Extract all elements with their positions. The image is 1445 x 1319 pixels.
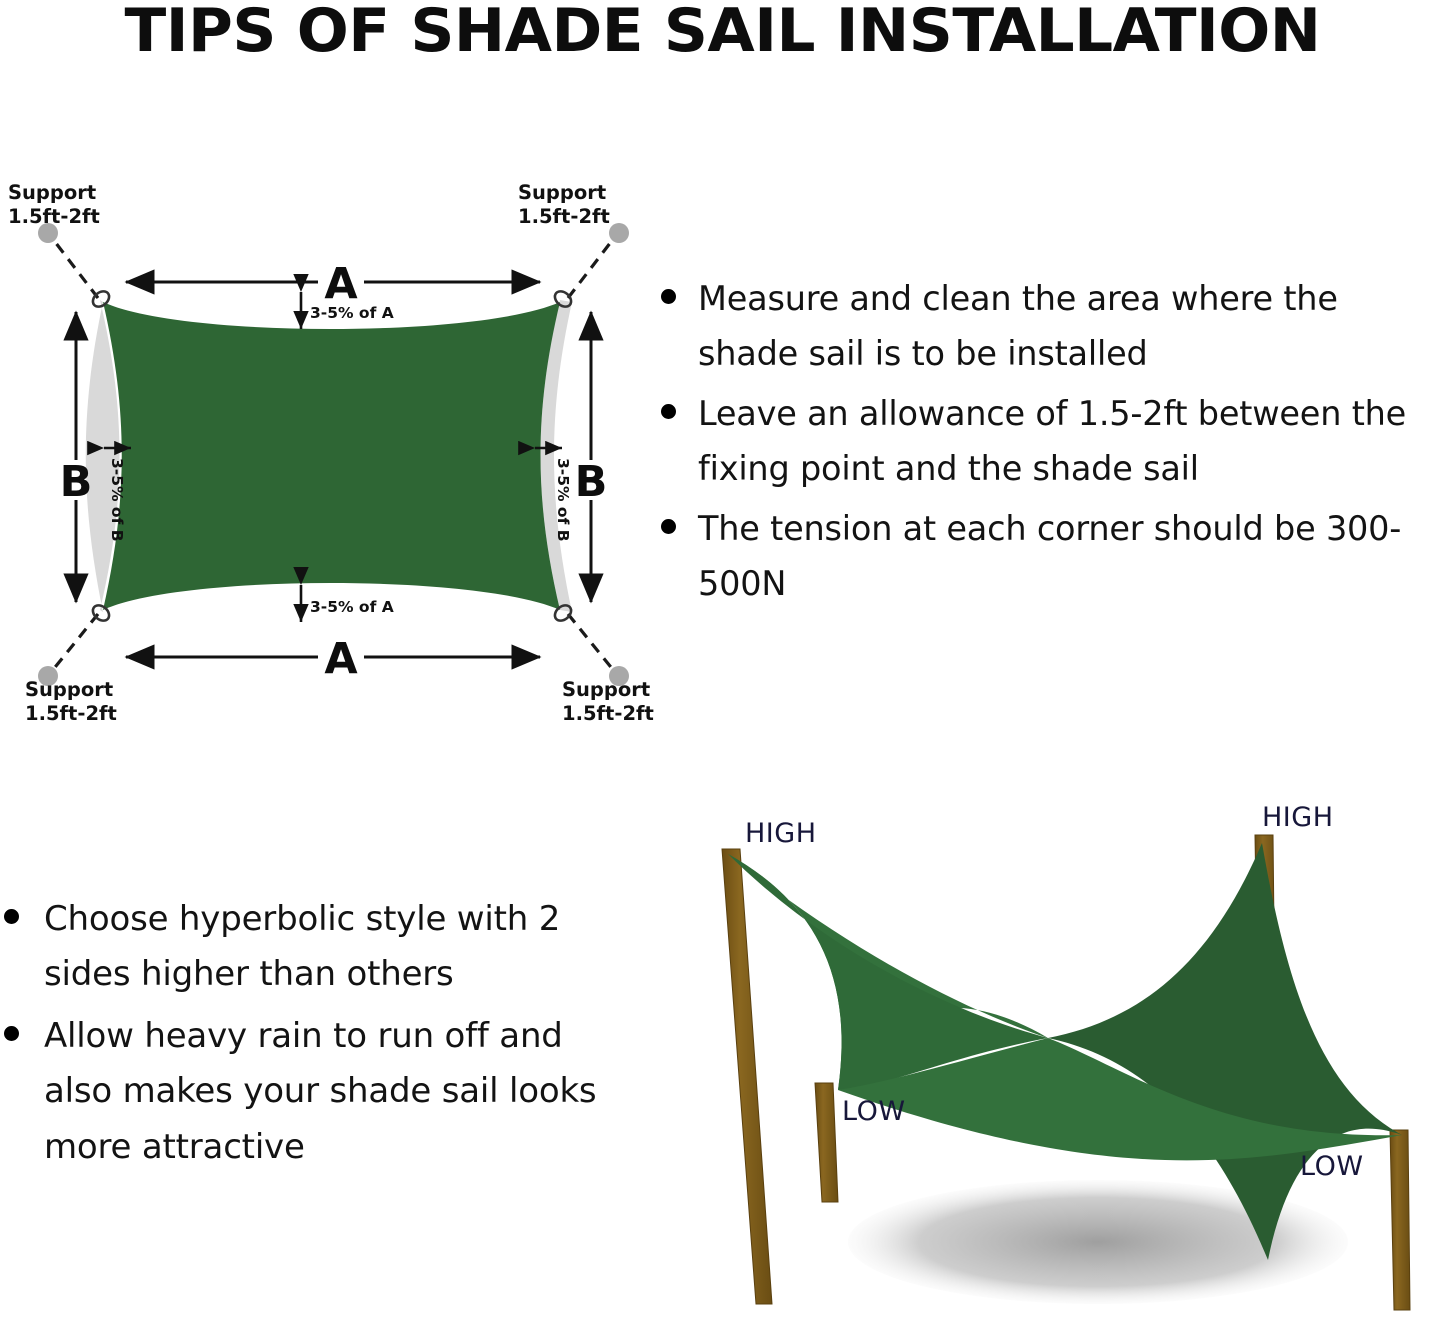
support-label-bottom-right-line2: 1.5ft-2ft	[562, 702, 654, 725]
support-label-top-right-line1: Support	[518, 181, 606, 204]
curvature-label-left: 3-5% of B	[108, 458, 126, 542]
bullet-icon	[4, 1026, 19, 1041]
hyperbolic-sail-illustration: HIGH HIGH LOW LOW	[650, 790, 1440, 1319]
dimension-label-a-top: A	[324, 259, 358, 309]
curvature-label-top: 3-5% of A	[310, 304, 394, 322]
support-label-top-left-line1: Support	[8, 181, 96, 204]
rectangular-sail-diagram: A 3-5% of A A 3-5% of A B 3-5% of B B 3-…	[0, 160, 680, 740]
tip-text: Choose hyperbolic style with 2 sides hig…	[44, 899, 560, 994]
dimension-label-a-bottom: A	[324, 634, 358, 684]
tip-text: Allow heavy rain to run off and also mak…	[44, 1016, 596, 1167]
dimension-label-b-right: B	[575, 457, 608, 507]
tip-text: Leave an allowance of 1.5-2ft between th…	[698, 394, 1406, 488]
tips-list-left: Choose hyperbolic style with 2 sides hig…	[0, 892, 618, 1181]
label-high-right: HIGH	[1262, 802, 1334, 833]
support-dashed-line-top-left	[52, 238, 98, 298]
label-low-right: LOW	[1300, 1151, 1364, 1182]
support-dashed-line-top-right	[568, 238, 614, 298]
support-label-top-right-line2: 1.5ft-2ft	[518, 205, 610, 228]
pole-high-left	[722, 849, 772, 1304]
bullet-icon	[4, 909, 19, 924]
tip-item: Leave an allowance of 1.5-2ft between th…	[648, 387, 1445, 496]
tip-item: Measure and clean the area where the sha…	[648, 272, 1445, 381]
support-label-bottom-left-line1: Support	[25, 678, 113, 701]
tip-text: The tension at each corner should be 300…	[698, 509, 1401, 603]
tip-item: Allow heavy rain to run off and also mak…	[0, 1009, 618, 1175]
tip-item: The tension at each corner should be 300…	[648, 502, 1445, 611]
bullet-icon	[661, 519, 676, 534]
bullet-icon	[661, 404, 676, 419]
bullet-icon	[661, 289, 676, 304]
support-dashed-line-bottom-right	[568, 614, 614, 671]
dimension-label-b-left: B	[60, 457, 93, 507]
shade-sail-body	[103, 302, 560, 610]
label-low-left: LOW	[842, 1096, 906, 1127]
curvature-label-right: 3-5% of B	[554, 458, 572, 542]
support-label-bottom-left-line2: 1.5ft-2ft	[25, 702, 117, 725]
support-dot-top-right	[609, 223, 629, 243]
page-title: TIPS OF SHADE SAIL INSTALLATION	[0, 0, 1445, 66]
support-label-bottom-right-line1: Support	[562, 678, 650, 701]
tip-item: Choose hyperbolic style with 2 sides hig…	[0, 892, 618, 1003]
support-label-top-left-line2: 1.5ft-2ft	[8, 205, 100, 228]
pole-low-left	[815, 1083, 838, 1202]
pole-low-right	[1390, 1130, 1410, 1310]
label-high-left: HIGH	[745, 818, 817, 849]
support-dashed-line-bottom-left	[52, 614, 98, 671]
curvature-label-bottom: 3-5% of A	[310, 598, 394, 616]
tips-list-right: Measure and clean the area where the sha…	[648, 272, 1445, 618]
tip-text: Measure and clean the area where the sha…	[698, 279, 1338, 373]
